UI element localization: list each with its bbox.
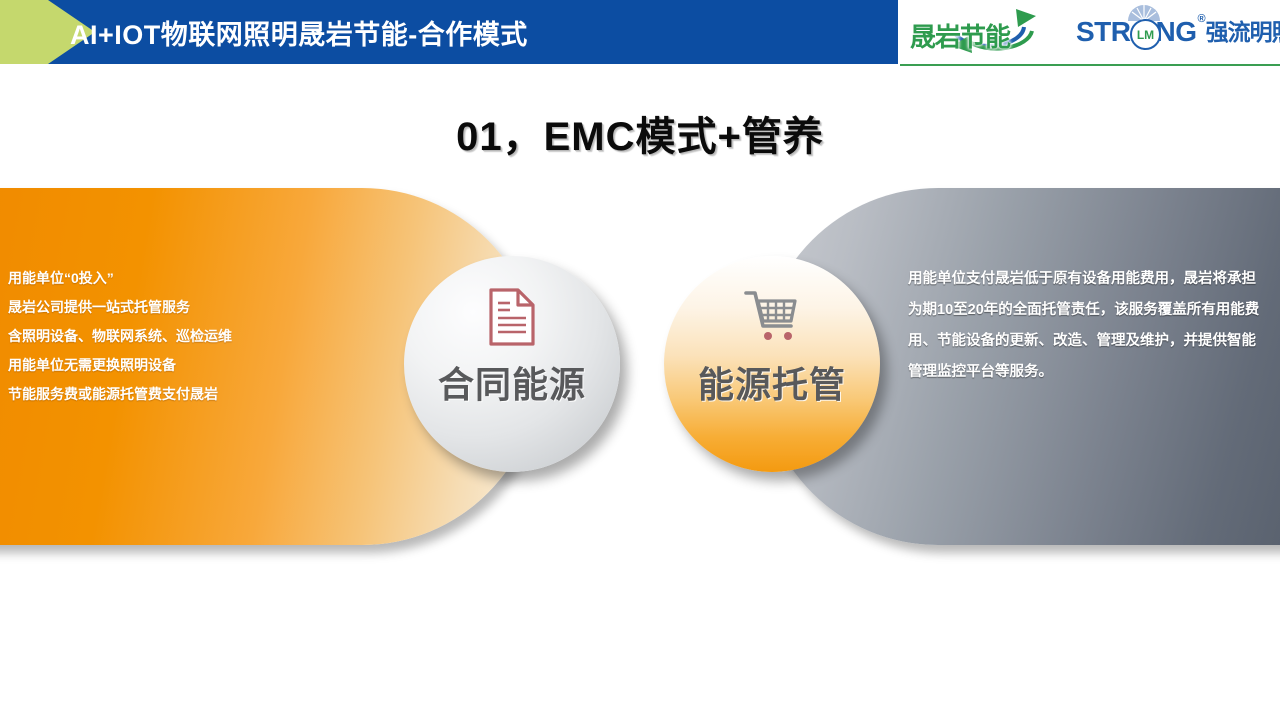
logo-strong: STRNG LM ® 强流明照明	[1076, 4, 1280, 60]
circle-icon-wrap	[487, 282, 537, 352]
page-title: AI+IOT物联网照明晟岩节能-合作模式	[70, 0, 528, 64]
logo-shengyan: 晟岩节能	[904, 4, 1072, 60]
right-panel-text: 用能单位支付晟岩低于原有设备用能费用，晟岩将承担为期10至20年的全面托管责任，…	[908, 264, 1270, 388]
left-text-line: 含照明设备、物联网系统、巡检运维	[8, 322, 338, 351]
shopping-cart-icon	[743, 288, 801, 346]
circle-icon-wrap	[743, 282, 801, 352]
brand-logo: 晟岩节能 STRNG LM ® 强流明照明	[900, 0, 1280, 66]
logo-lm-mark: LM	[1130, 19, 1161, 50]
right-text-paragraph: 用能单位支付晟岩低于原有设备用能费用，晟岩将承担为期10至20年的全面托管责任，…	[908, 264, 1270, 388]
left-panel-text: 用能单位“0投入” 晟岩公司提供一站式托管服务 含照明设备、物联网系统、巡检运维…	[8, 264, 338, 409]
left-text-line: 用能单位“0投入”	[8, 264, 338, 293]
circle-contract-energy[interactable]: 合同能源	[404, 256, 620, 472]
circle-energy-hosting[interactable]: 能源托管	[664, 256, 880, 472]
logo-strong-prefix: STR	[1076, 16, 1131, 47]
document-icon	[487, 287, 537, 347]
left-text-line: 节能服务费或能源托管费支付晟岩	[8, 380, 338, 409]
slide-heading: 01，EMC模式+管养	[0, 104, 1280, 162]
left-text-line: 晟岩公司提供一站式托管服务	[8, 293, 338, 322]
circle-label: 合同能源	[438, 356, 586, 408]
logo-brand-cn2: 强流明照明	[1206, 4, 1280, 60]
left-text-line: 用能单位无需更换照明设备	[8, 351, 338, 380]
logo-strong-wordmark: STRNG LM	[1076, 4, 1197, 60]
circle-label: 能源托管	[698, 356, 846, 408]
logo-brand-cn: 晟岩节能	[910, 17, 1010, 54]
logo-registered-icon: ®	[1198, 4, 1206, 34]
